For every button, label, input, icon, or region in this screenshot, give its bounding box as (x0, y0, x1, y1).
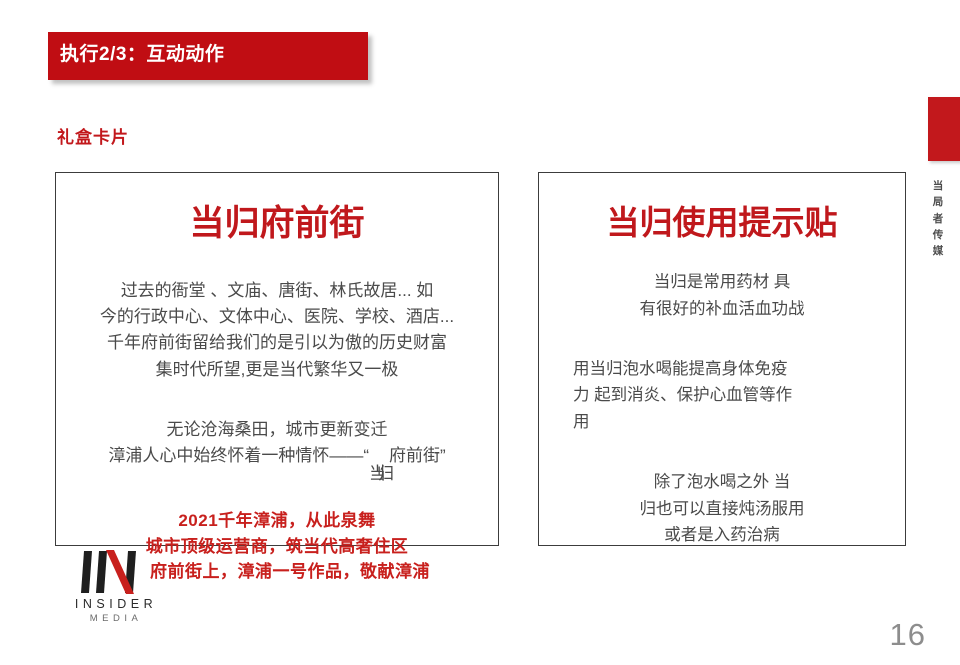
sidebar-char-3: 者 (928, 211, 948, 227)
card-left-p1-line2: 今的行政中心、文体中心、医院、学校、酒店... (64, 304, 490, 330)
card-right-body: 当归是常用药材 具 有很好的补血活血功战 用当归泡水喝能提高身体免疫 力 起到消… (539, 269, 905, 548)
card-left-body: 过去的衙堂 、文庙、唐街、林氏故居... 如 今的行政中心、文体中心、医院、学校… (56, 278, 498, 470)
subheading-gift-box-card: 礼盒卡片 (57, 123, 129, 148)
card-right-title: 当归使用提示贴 (539, 205, 905, 241)
card-right-p3-line2: 归也可以直接炖汤服用 (573, 496, 871, 522)
paragraph-spacer (573, 435, 871, 469)
sidebar-vertical-brand-text: 当 局 者 传 媒 (928, 178, 948, 259)
sidebar-char-4: 传 (928, 227, 948, 243)
logo-submark: MEDIA (60, 613, 172, 624)
card-right: 当归使用提示贴 当归是常用药材 具 有很好的补血活血功战 用当归泡水喝能提高身体… (538, 172, 906, 546)
card-left-p1-line1: 过去的衙堂 、文庙、唐街、林氏故居... 如 (64, 278, 490, 304)
card-right-p1-line1: 当归是常用药材 具 (573, 269, 871, 295)
card-left-p2-line2-suffix: 府前街” (389, 446, 446, 465)
card-right-p2-line3: 用 (573, 409, 871, 435)
section-banner-label: 执行2/3：互动动作 (60, 39, 224, 66)
card-right-p3-line3: 或者是入药治病 (573, 522, 871, 548)
page-number: 16 (890, 617, 926, 653)
promo-line-1: 2021千年漳浦，从此泉舞 (55, 508, 499, 534)
sidebar-char-2: 局 (928, 194, 948, 210)
card-left: 当归府前街 过去的衙堂 、文庙、唐街、林氏故居... 如 今的行政中心、文体中心… (55, 172, 499, 546)
promo-text-block: 2021千年漳浦，从此泉舞 城市顶级运营商，筑当代高奢住区 府前街上，漳浦一号作… (55, 508, 499, 585)
card-left-p2-line2-prefix: 漳浦人心中始终怀着一种情怀——“ (108, 446, 369, 465)
overlapped-glyph-second: 归 (377, 461, 394, 487)
sidebar-char-1: 当 (928, 178, 948, 194)
card-right-p2-line1: 用当归泡水喝能提高身体免疫 (573, 356, 871, 382)
promo-line-3: 府前街上，漳浦一号作品，敬献漳浦 (55, 559, 499, 585)
paragraph-spacer (573, 322, 871, 356)
sidebar-red-block (928, 97, 960, 161)
card-left-p1-line3: 千年府前街留给我们的是引以为傲的历史财富 (64, 330, 490, 356)
logo-wordmark: INSIDER (60, 597, 172, 611)
card-left-p2-line1: 无论沧海桑田，城市更新变迁 (64, 417, 490, 443)
card-right-p3-line1: 除了泡水喝之外 当 (573, 469, 871, 495)
paragraph-spacer (64, 383, 490, 417)
card-left-p1-line4: 集时代所望,更是当代繁华又一极 (64, 357, 490, 383)
sidebar-char-5: 媒 (928, 243, 948, 259)
section-banner: 执行2/3：互动动作 (48, 32, 368, 80)
card-left-p2-line2: 漳浦人心中始终怀着一种情怀——“当归府前街” (64, 443, 490, 469)
card-left-title: 当归府前街 (56, 205, 498, 244)
promo-line-2: 城市顶级运营商，筑当代高奢住区 (55, 534, 499, 560)
card-right-p2-line2: 力 起到消炎、保护心血管等作 (573, 382, 871, 408)
card-right-p1-line2: 有很好的补血活血功战 (573, 296, 871, 322)
